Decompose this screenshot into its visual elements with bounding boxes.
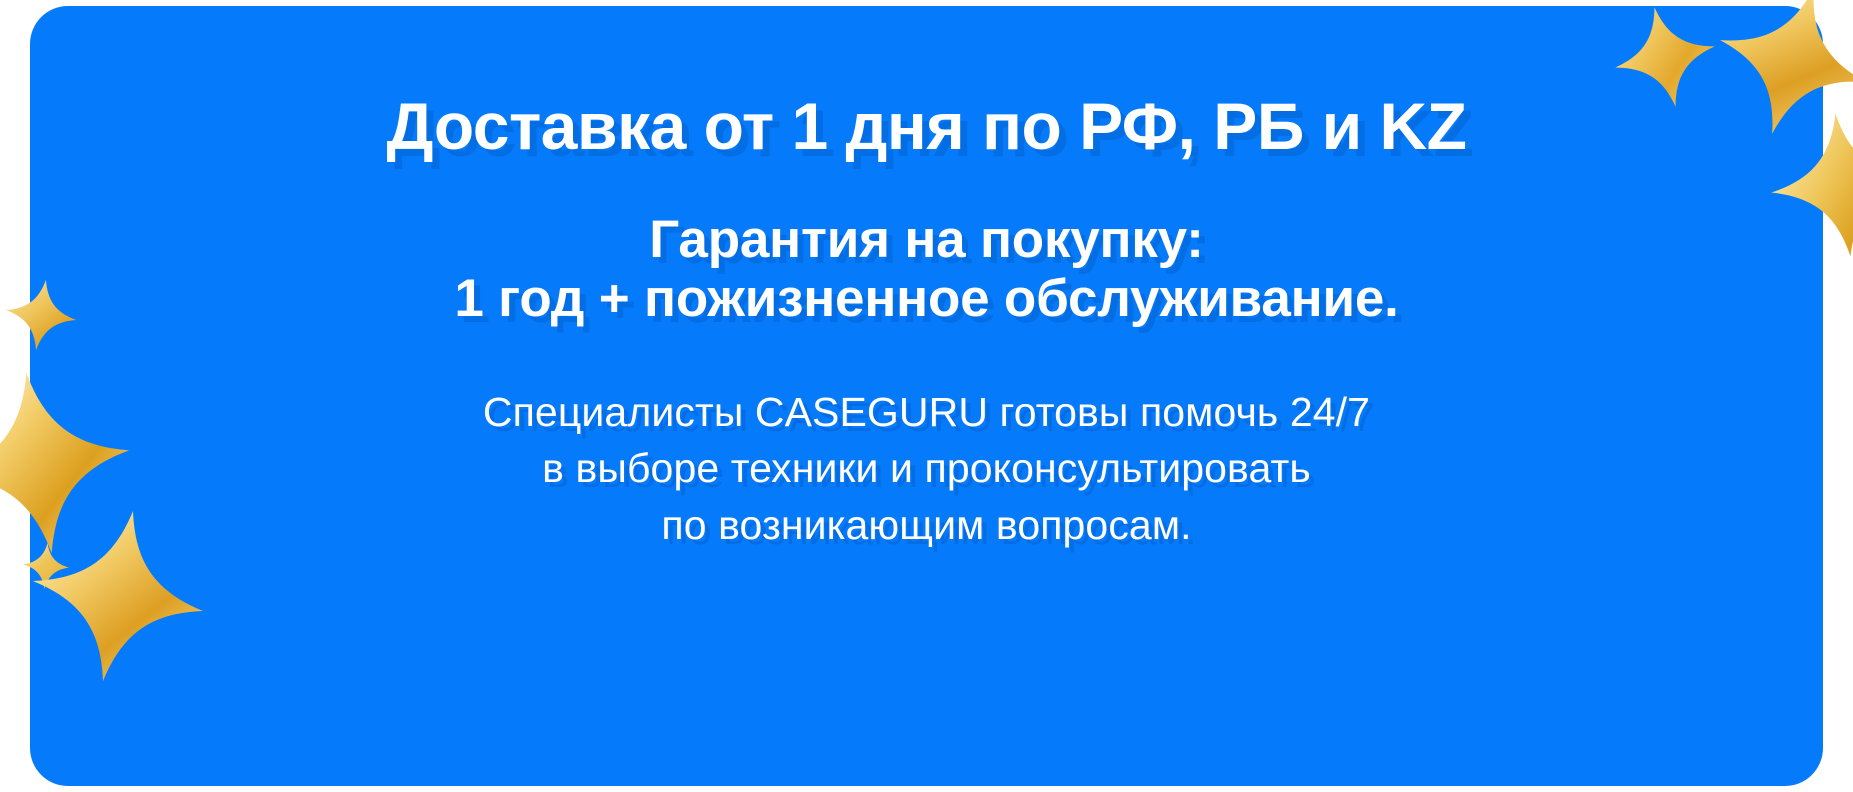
guarantee-text: Гарантия на покупку: 1 год + пожизненное… (454, 210, 1398, 329)
delivery-promo-banner: Доставка от 1 дня по РФ, РБ и KZ Гаранти… (0, 0, 1853, 792)
support-text: Специалисты CASEGURU готовы помочь 24/7 … (483, 384, 1370, 554)
headline-delivery: Доставка от 1 дня по РФ, РБ и KZ (387, 92, 1467, 162)
